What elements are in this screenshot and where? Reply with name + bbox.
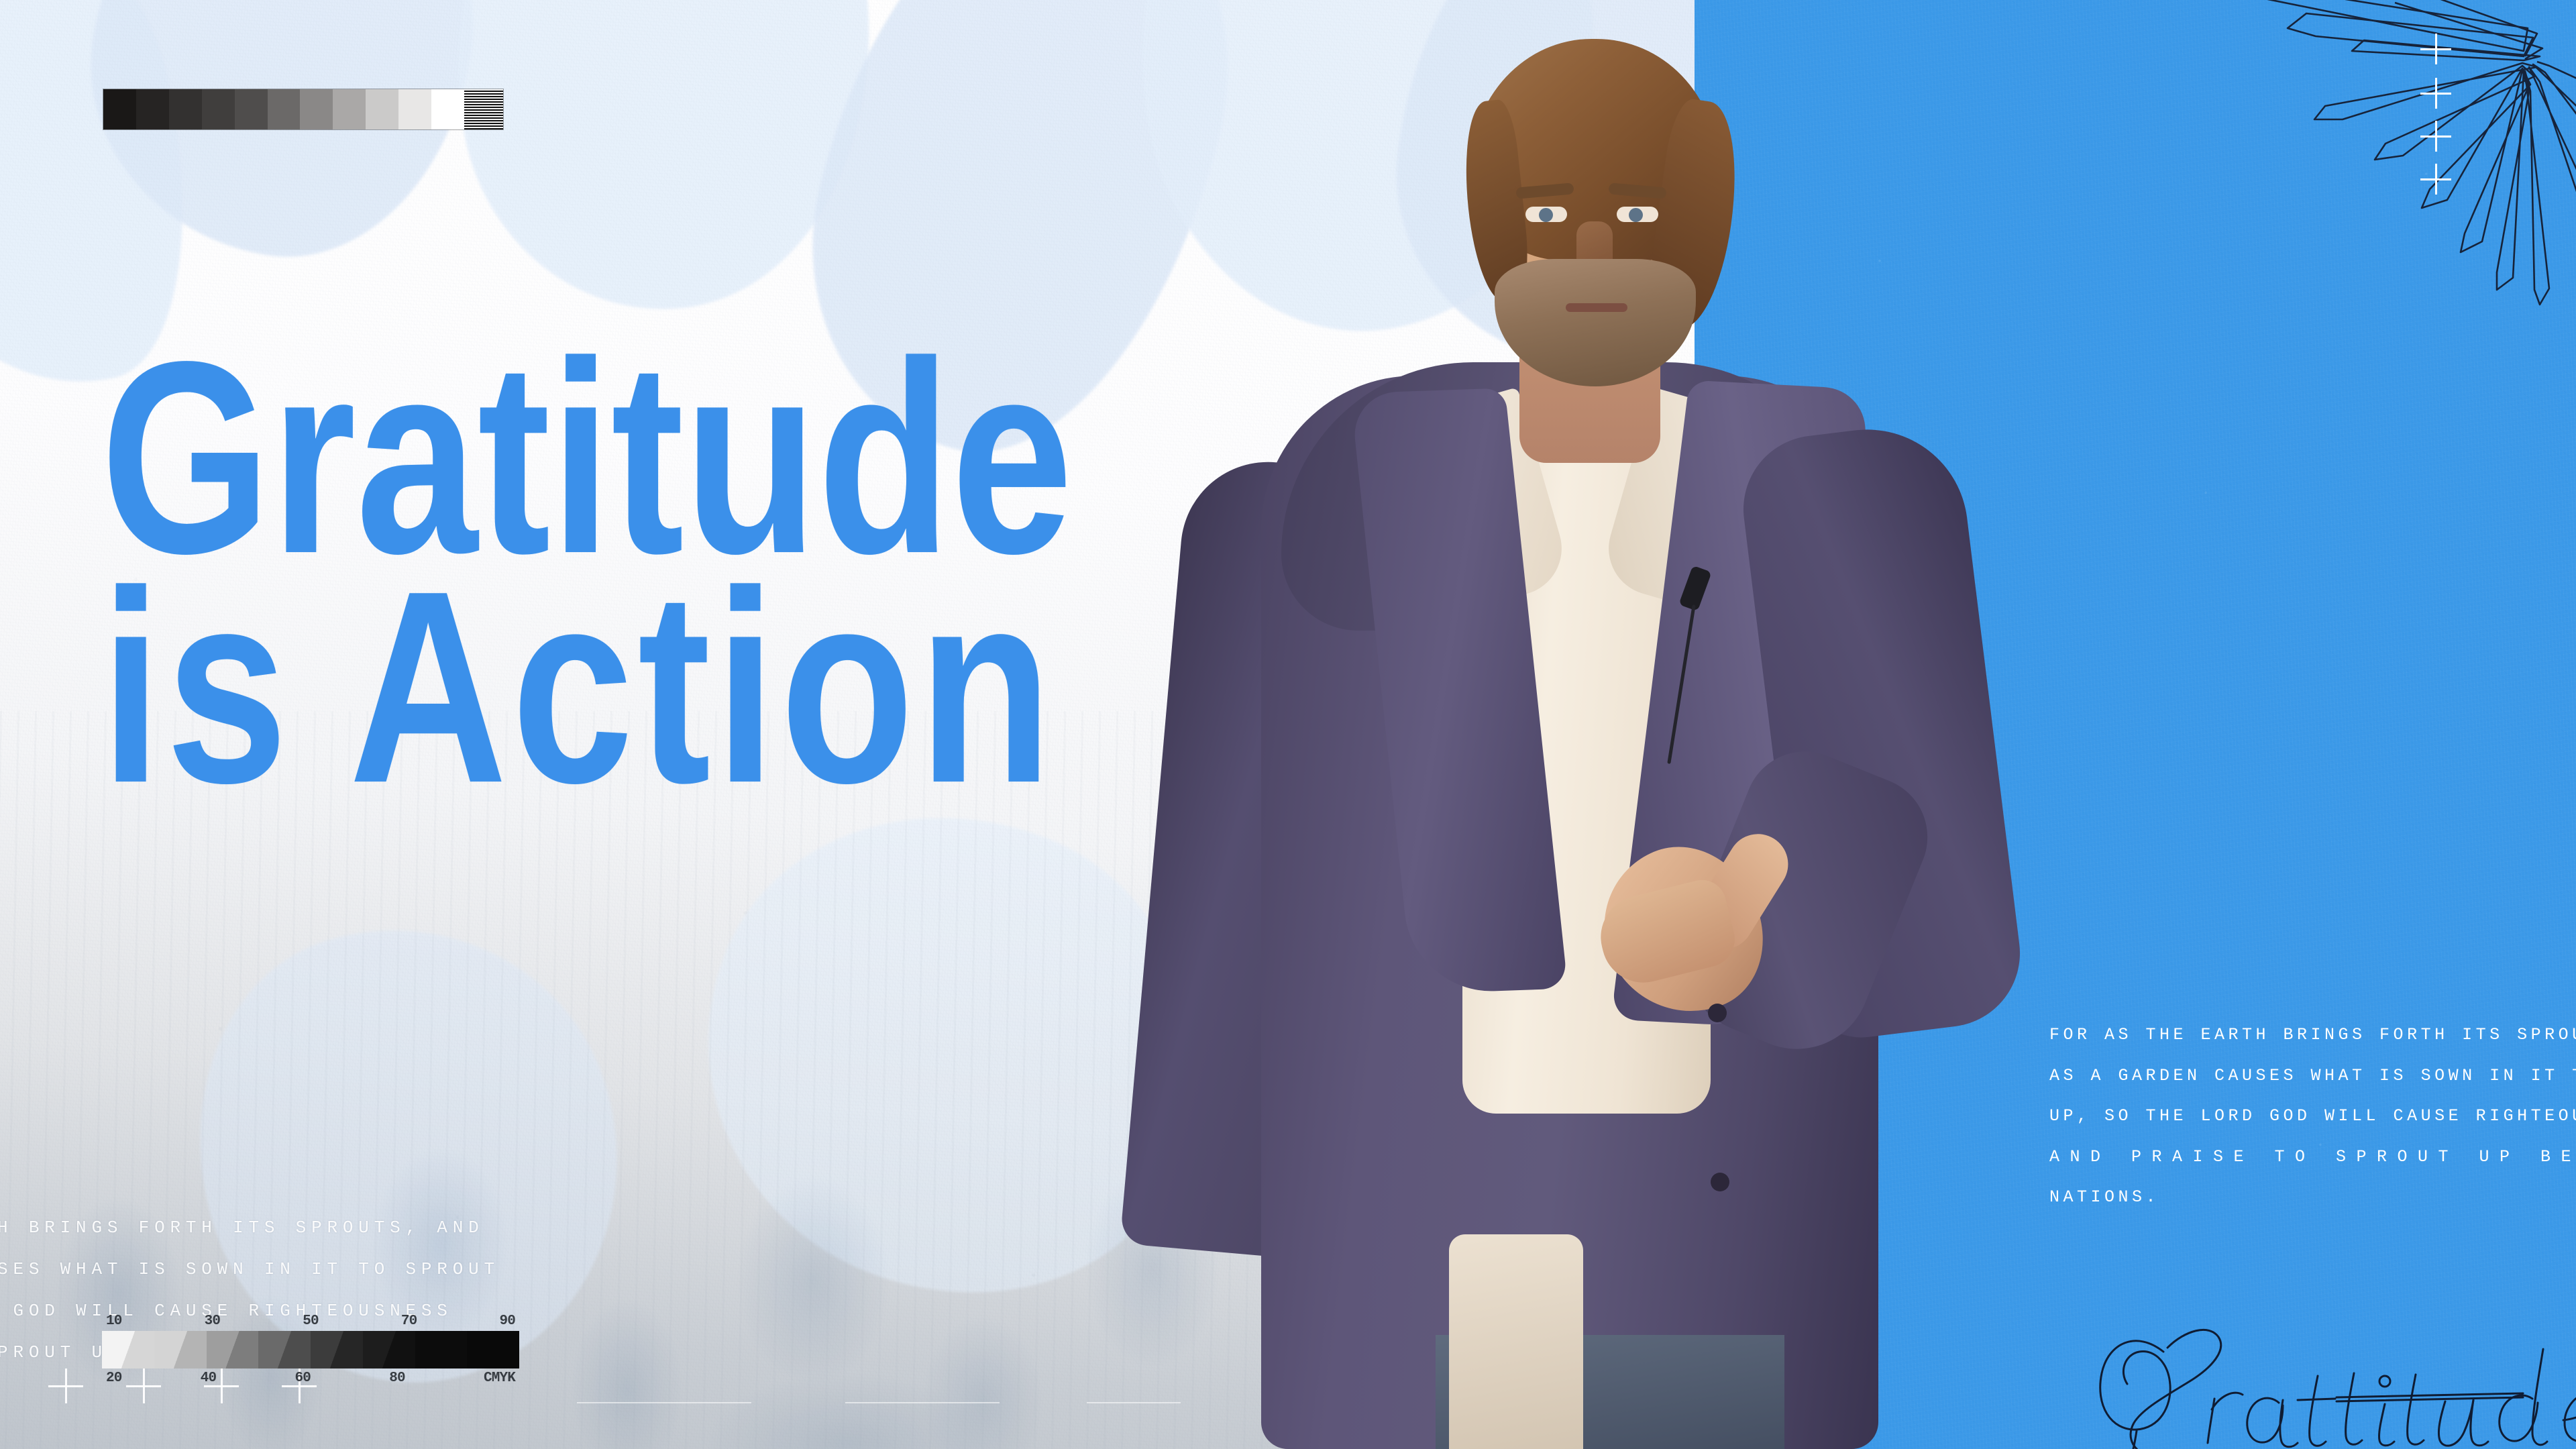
scripture-right: FOR AS THE EARTH BRINGS FORTH ITS SPROUT… [2049, 1015, 2576, 1218]
slide-canvas: Gratitude is Action FOR AS THE EARTH BRI… [0, 0, 2576, 1449]
cmyk-patch [154, 1331, 207, 1368]
cmyk-patch [467, 1331, 519, 1368]
cmyk-top-labels: 10 30 50 70 90 [102, 1313, 519, 1329]
scripture-right-line: NATIONS. [2049, 1177, 2576, 1218]
grayscale-step [333, 89, 366, 129]
registration-crosshair-sunburst-4 [2420, 164, 2451, 195]
scripture-right-line: AND PRAISE TO SPROUT UP BEFORE A [2049, 1137, 2576, 1178]
grayscale-step [431, 89, 464, 129]
grayscale-step [366, 89, 398, 129]
grayscale-step [169, 89, 202, 129]
iris-left [1539, 208, 1553, 222]
hairline-rule-2 [845, 1402, 1000, 1403]
iris-right [1629, 208, 1643, 222]
scripture-left-line: AS A GARDEN CAUSES WHAT IS SOWN IN IT TO… [0, 1259, 500, 1279]
cmyk-patch [258, 1331, 311, 1368]
cmyk-label: 40 [201, 1371, 217, 1386]
cmyk-patch [363, 1331, 415, 1368]
script-gratitude-mark [2070, 1311, 2576, 1449]
cmyk-density-scale: 10 30 50 70 90 20 40 60 80 CMYK [102, 1313, 519, 1386]
cmyk-label: 10 [106, 1313, 122, 1329]
title-line-2: is Action [101, 578, 1077, 797]
registration-crosshair-sunburst-1 [2420, 34, 2451, 64]
registration-crosshair-sunburst-3 [2420, 121, 2451, 152]
cmyk-label: 90 [499, 1313, 515, 1329]
sunburst-line-art [2194, 0, 2576, 335]
cmyk-patch [415, 1331, 468, 1368]
cmyk-patch [102, 1331, 154, 1368]
mouth [1566, 303, 1627, 312]
cmyk-label: 80 [389, 1371, 405, 1386]
scripture-right-line: FOR AS THE EARTH BRINGS FORTH ITS SPROUT… [2049, 1015, 2576, 1056]
registration-crosshair-sunburst-2 [2420, 78, 2451, 109]
grayscale-step [103, 89, 136, 129]
grayscale-step-wedge [103, 89, 504, 130]
jacket-button-bottom [1711, 1173, 1729, 1191]
sermon-title: Gratitude is Action [101, 349, 1322, 798]
scripture-right-line: AS A GARDEN CAUSES WHAT IS SOWN IN IT TO [2049, 1056, 2576, 1097]
cmyk-label: 30 [205, 1313, 221, 1329]
line-screen-patch [464, 89, 503, 129]
hairline-rule-3 [1087, 1402, 1181, 1403]
cmyk-label: 70 [401, 1313, 417, 1329]
registration-crosshair-1 [48, 1368, 83, 1403]
grayscale-step [136, 89, 169, 129]
cmyk-patch [207, 1331, 259, 1368]
grayscale-step [202, 89, 235, 129]
scripture-left-line: FOR AS THE EARTH BRINGS FORTH ITS SPROUT… [0, 1218, 484, 1238]
grayscale-step [398, 89, 431, 129]
cmyk-label: 20 [106, 1371, 122, 1386]
grayscale-step [235, 89, 268, 129]
jacket-button-top [1708, 1004, 1727, 1022]
shirt-tail [1449, 1234, 1583, 1449]
scripture-right-line: UP, SO THE LORD GOD WILL CAUSE RIGHTEOUS [2049, 1096, 2576, 1137]
cmyk-patch-bar [102, 1331, 519, 1368]
grayscale-step [268, 89, 301, 129]
cmyk-label: 50 [303, 1313, 319, 1329]
cmyk-label: 60 [294, 1371, 311, 1386]
speaker-portrait [1181, 0, 2153, 1449]
hairline-rule-1 [577, 1402, 751, 1403]
cmyk-label: CMYK [484, 1371, 515, 1386]
cmyk-bottom-labels: 20 40 60 80 CMYK [102, 1371, 519, 1386]
cmyk-patch [311, 1331, 363, 1368]
grayscale-step [300, 89, 333, 129]
